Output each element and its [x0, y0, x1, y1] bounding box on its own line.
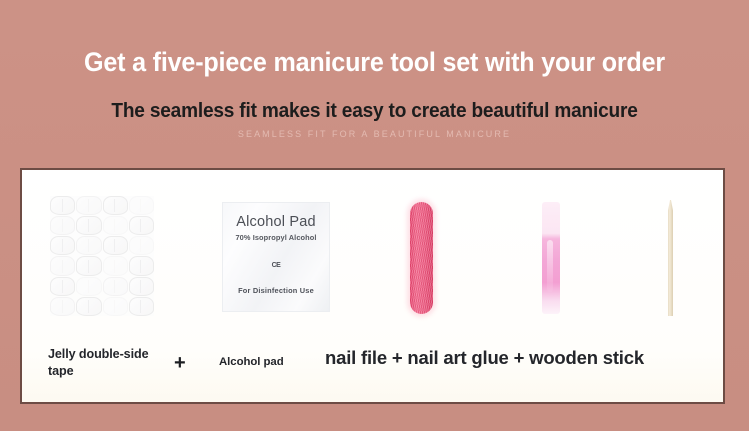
- alcohol-pad-subtitle: 70% Isopropyl Alcohol: [223, 233, 329, 242]
- tape-tab: [76, 196, 101, 215]
- alcohol-pad-usage: For Disinfection Use: [223, 286, 329, 295]
- tape-tab: [76, 216, 101, 235]
- tape-tab: [129, 216, 154, 235]
- tape-tab: [50, 256, 75, 275]
- product-card: Alcohol Pad 70% Isopropyl Alcohol CE For…: [20, 168, 725, 404]
- tape-tab: [76, 297, 101, 316]
- caption-jelly-tape: Jelly double-side tape: [48, 346, 168, 380]
- product-slot-nail-file: [360, 170, 490, 342]
- product-slot-wooden-stick: [620, 170, 725, 342]
- tape-tab: [103, 216, 128, 235]
- page-title: Get a five-piece manicure tool set with …: [26, 47, 723, 77]
- nail-art-glue-bottle-icon: [542, 202, 560, 314]
- tape-tab: [103, 297, 128, 316]
- alcohol-pad-sachet-icon: Alcohol Pad 70% Isopropyl Alcohol CE For…: [222, 202, 330, 312]
- tape-tab: [129, 236, 154, 255]
- tape-tab: [103, 277, 128, 296]
- tape-tab: [129, 277, 154, 296]
- tape-tab: [103, 256, 128, 275]
- jelly-double-side-tape-sheet-icon: [50, 196, 154, 316]
- tape-tab: [50, 297, 75, 316]
- tape-tab: [50, 277, 75, 296]
- tape-tab: [50, 196, 75, 215]
- tape-tab: [129, 297, 154, 316]
- headline-block: Get a five-piece manicure tool set with …: [0, 0, 749, 140]
- tape-tab: [76, 277, 101, 296]
- tape-tab: [129, 256, 154, 275]
- promo-banner: Get a five-piece manicure tool set with …: [0, 0, 749, 431]
- tape-tab: [76, 256, 101, 275]
- product-image-row: Alcohol Pad 70% Isopropyl Alcohol CE For…: [22, 170, 723, 342]
- tape-tab: [76, 236, 101, 255]
- product-slot-nail-art-glue: [490, 170, 620, 342]
- product-slot-jelly-tape: [30, 170, 195, 342]
- tape-tab: [50, 216, 75, 235]
- product-card-inner: Alcohol Pad 70% Isopropyl Alcohol CE For…: [22, 170, 723, 402]
- ce-mark: CE: [223, 262, 329, 269]
- caption-alcohol-pad: Alcohol pad: [219, 354, 284, 370]
- caption-plus-separator: +: [174, 352, 186, 374]
- product-caption-row: Jelly double-side tape + Alcohol pad nai…: [22, 342, 723, 402]
- alcohol-pad-title: Alcohol Pad: [223, 214, 329, 230]
- nail-file-icon: [410, 202, 433, 314]
- tape-tab: [103, 236, 128, 255]
- tagline: SEAMLESS FIT FOR A BEAUTIFUL MANICURE: [0, 128, 749, 140]
- caption-right-group: nail file + nail art glue + wooden stick: [325, 346, 644, 370]
- wooden-cuticle-stick-icon: [668, 200, 673, 316]
- subtitle: The seamless fit makes it easy to create…: [26, 99, 723, 123]
- tape-tab: [50, 236, 75, 255]
- tape-tab: [103, 196, 128, 215]
- product-slot-alcohol-pad: Alcohol Pad 70% Isopropyl Alcohol CE For…: [195, 170, 360, 342]
- tape-tab: [129, 196, 154, 215]
